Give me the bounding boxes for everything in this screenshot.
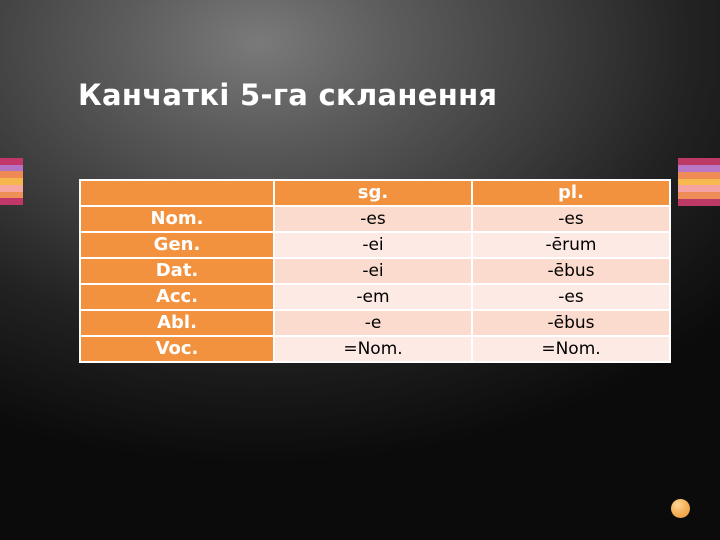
- stripe-left-1: [0, 165, 23, 172]
- ending-plural: =Nom.: [473, 337, 669, 361]
- ending-plural: -ērum: [473, 233, 669, 257]
- ending-singular: -em: [275, 285, 471, 309]
- stripe-right-2: [678, 172, 720, 179]
- table-body: Nom.-es-esGen.-ei-ērumDat.-ei-ēbusAcc.-e…: [81, 207, 669, 361]
- ending-plural: -es: [473, 207, 669, 231]
- stripe-left-3: [0, 178, 23, 185]
- stripe-left-4: [0, 185, 23, 192]
- ending-singular: -e: [275, 311, 471, 335]
- stripe-right-4: [678, 185, 720, 192]
- case-label-nom: Nom.: [81, 207, 273, 231]
- decorative-stripes-left: [0, 158, 23, 205]
- stripe-right-0: [678, 158, 720, 165]
- bullet-dot-icon: [671, 499, 690, 518]
- table-row: Gen.-ei-ērum: [81, 233, 669, 257]
- header-cell-pl: pl.: [473, 181, 669, 205]
- table-row: Dat.-ei-ēbus: [81, 259, 669, 283]
- stripe-left-2: [0, 171, 23, 178]
- stripe-right-1: [678, 165, 720, 172]
- stripe-right-5: [678, 192, 720, 199]
- slide-canvas: Канчаткі 5-га скланення sg. pl. Nom.-es-…: [0, 0, 720, 540]
- header-cell-sg: sg.: [275, 181, 471, 205]
- table-row: Abl.-e-ēbus: [81, 311, 669, 335]
- case-label-gen: Gen.: [81, 233, 273, 257]
- table-row: Nom.-es-es: [81, 207, 669, 231]
- declension-table: sg. pl. Nom.-es-esGen.-ei-ērumDat.-ei-ēb…: [79, 179, 671, 363]
- table-row: Voc.=Nom.=Nom.: [81, 337, 669, 361]
- table-row: Acc.-em-es: [81, 285, 669, 309]
- table-header-row: sg. pl.: [81, 181, 669, 205]
- decorative-stripes-right: [678, 158, 720, 206]
- ending-singular: -ei: [275, 233, 471, 257]
- case-label-voc: Voc.: [81, 337, 273, 361]
- ending-singular: -es: [275, 207, 471, 231]
- header-cell-case: [81, 181, 273, 205]
- stripe-left-0: [0, 158, 23, 165]
- stripe-left-5: [0, 192, 23, 199]
- stripe-right-6: [678, 199, 720, 206]
- case-label-dat: Dat.: [81, 259, 273, 283]
- ending-singular: -ei: [275, 259, 471, 283]
- case-label-acc: Acc.: [81, 285, 273, 309]
- ending-plural: -es: [473, 285, 669, 309]
- stripe-left-6: [0, 198, 23, 205]
- ending-plural: -ēbus: [473, 311, 669, 335]
- ending-singular: =Nom.: [275, 337, 471, 361]
- ending-plural: -ēbus: [473, 259, 669, 283]
- stripe-right-3: [678, 179, 720, 186]
- case-label-abl: Abl.: [81, 311, 273, 335]
- page-title: Канчаткі 5-га скланення: [78, 77, 678, 113]
